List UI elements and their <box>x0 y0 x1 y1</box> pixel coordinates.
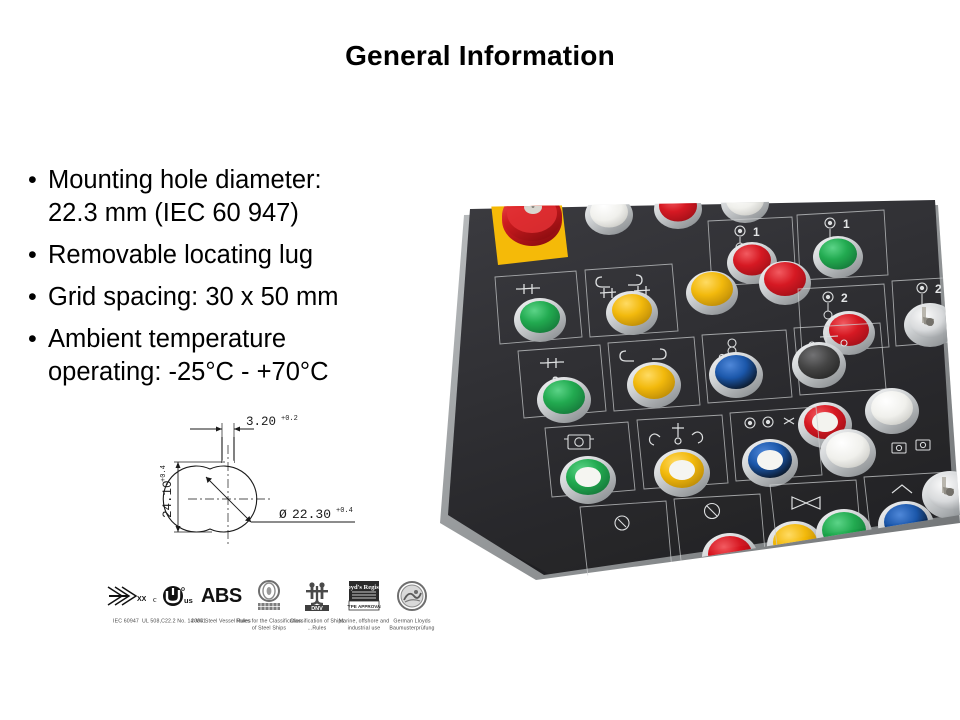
certification-logo-strip: XX IEC 60947 c us UL 508,C22.2 No. 14-M9… <box>104 578 434 628</box>
mounting-hole-dimension-drawing: 3.20 +0.2 24.10 +0.4 Ø 22.30 +0.4 <box>150 405 420 565</box>
lloyds-approval-label: TYPE APPROVAL <box>347 604 381 609</box>
bullet-text-removable-locating-lug: Removable locating lug <box>48 239 448 272</box>
germanischer-lloyd-seal-icon <box>396 578 428 614</box>
certification-caption-germanischer-lloyd: German Lloyds Baumusterprüfung <box>377 618 447 633</box>
list-item: • Grid spacing: 30 x 50 mm <box>28 281 448 314</box>
iec-chevron-icon: XX <box>106 578 146 614</box>
list-item: • Ambient temperature operating: -25°C -… <box>28 323 448 389</box>
dimension-height-tolerance: +0.4 <box>160 465 168 482</box>
page-title: General Information <box>0 40 960 72</box>
iec-suffix: XX <box>137 596 146 603</box>
abs-word: ABS <box>201 585 242 608</box>
bullet-text-mounting-hole-diameter: Mounting hole diameter: 22.3 mm (IEC 60 … <box>48 164 448 230</box>
dimension-diameter: 22.30 <box>292 507 331 522</box>
list-item: • Removable locating lug <box>28 239 448 272</box>
bullet-marker: • <box>28 323 48 356</box>
bullet-text-grid-spacing: Grid spacing: 30 x 50 mm <box>48 281 448 314</box>
bullet-marker: • <box>28 239 48 272</box>
cul-suffix: us <box>184 596 193 605</box>
bullet-marker: • <box>28 281 48 314</box>
dnv-label: DNV <box>311 606 323 612</box>
specification-bullet-list: • Mounting hole diameter: 22.3 mm (IEC 6… <box>28 164 448 398</box>
dimension-height: 24.10 <box>161 480 175 518</box>
bullet-text-ambient-temperature: Ambient temperature operating: -25°C - +… <box>48 323 448 389</box>
abs-wordmark-icon: ABS <box>201 578 242 614</box>
control-panel-photo: 1 1 <box>440 185 960 580</box>
rina-seal-icon <box>254 578 284 614</box>
lloyds-register-icon: Lloyd's Register TYPE APPROVAL <box>347 578 381 614</box>
list-item: • Mounting hole diameter: 22.3 mm (IEC 6… <box>28 164 448 230</box>
bullet-marker: • <box>28 164 48 197</box>
dimension-slot-width: 3.20 <box>246 415 276 429</box>
certification-item-iec: XX IEC 60947 <box>104 578 148 623</box>
dimension-slot-width-tolerance: +0.2 <box>281 415 298 423</box>
dnv-anchor-icon: DNV <box>302 578 332 614</box>
dimension-diameter-symbol: Ø <box>279 507 287 522</box>
certification-item-germanischer-lloyd: German Lloyds Baumusterprüfung <box>390 578 434 628</box>
certification-item-ul-csa: c us UL 508,C22.2 No. 14-M91 <box>152 578 196 623</box>
lloyds-label: Lloyd's Register <box>347 584 381 591</box>
cul-us-icon: c us <box>153 578 195 614</box>
cul-prefix: c <box>153 595 157 604</box>
certification-item-abs: ABS 2004 Steel Vessel Rules <box>199 578 243 623</box>
dimension-diameter-tolerance: +0.4 <box>336 507 353 515</box>
